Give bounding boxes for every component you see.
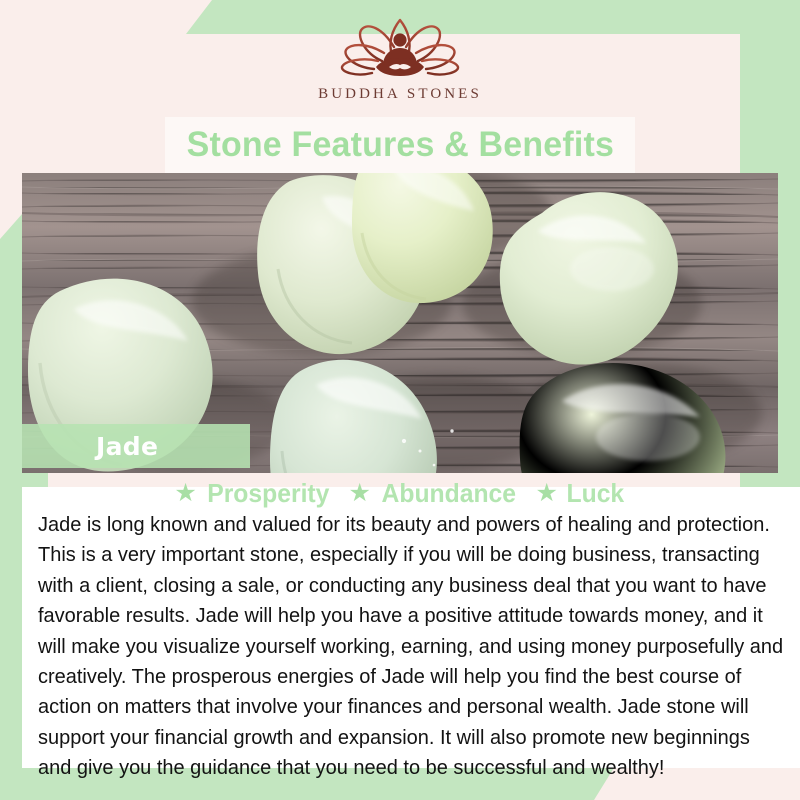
benefit-item-abundance: ★ Abundance: [348, 478, 519, 509]
star-icon: ★: [174, 481, 196, 506]
lotus-meditation-icon: [332, 17, 468, 83]
description-panel: Jade is long known and valued for its be…: [22, 487, 800, 768]
section-title-banner: Stone Features & Benefits: [165, 117, 635, 173]
star-icon: ★: [348, 481, 370, 506]
description-text: Jade is long known and valued for its be…: [38, 510, 789, 784]
benefit-label: Prosperity: [207, 478, 329, 509]
stone-name-text: Jade: [96, 432, 158, 461]
benefit-label: Luck: [566, 478, 624, 509]
benefit-label: Abundance: [381, 478, 515, 509]
brand-wordmark: BUDDHA STONES: [318, 86, 482, 103]
page-title: Stone Features & Benefits: [186, 125, 613, 165]
benefits-list: ★ Prosperity ★ Abundance ★ Luck: [0, 478, 800, 509]
stone-name-label: Jade: [22, 424, 250, 468]
star-icon: ★: [535, 481, 557, 506]
brand-header: BUDDHA STONES: [0, 0, 800, 120]
benefit-item-prosperity: ★ Prosperity: [174, 478, 332, 509]
benefit-item-luck: ★ Luck: [535, 478, 625, 509]
